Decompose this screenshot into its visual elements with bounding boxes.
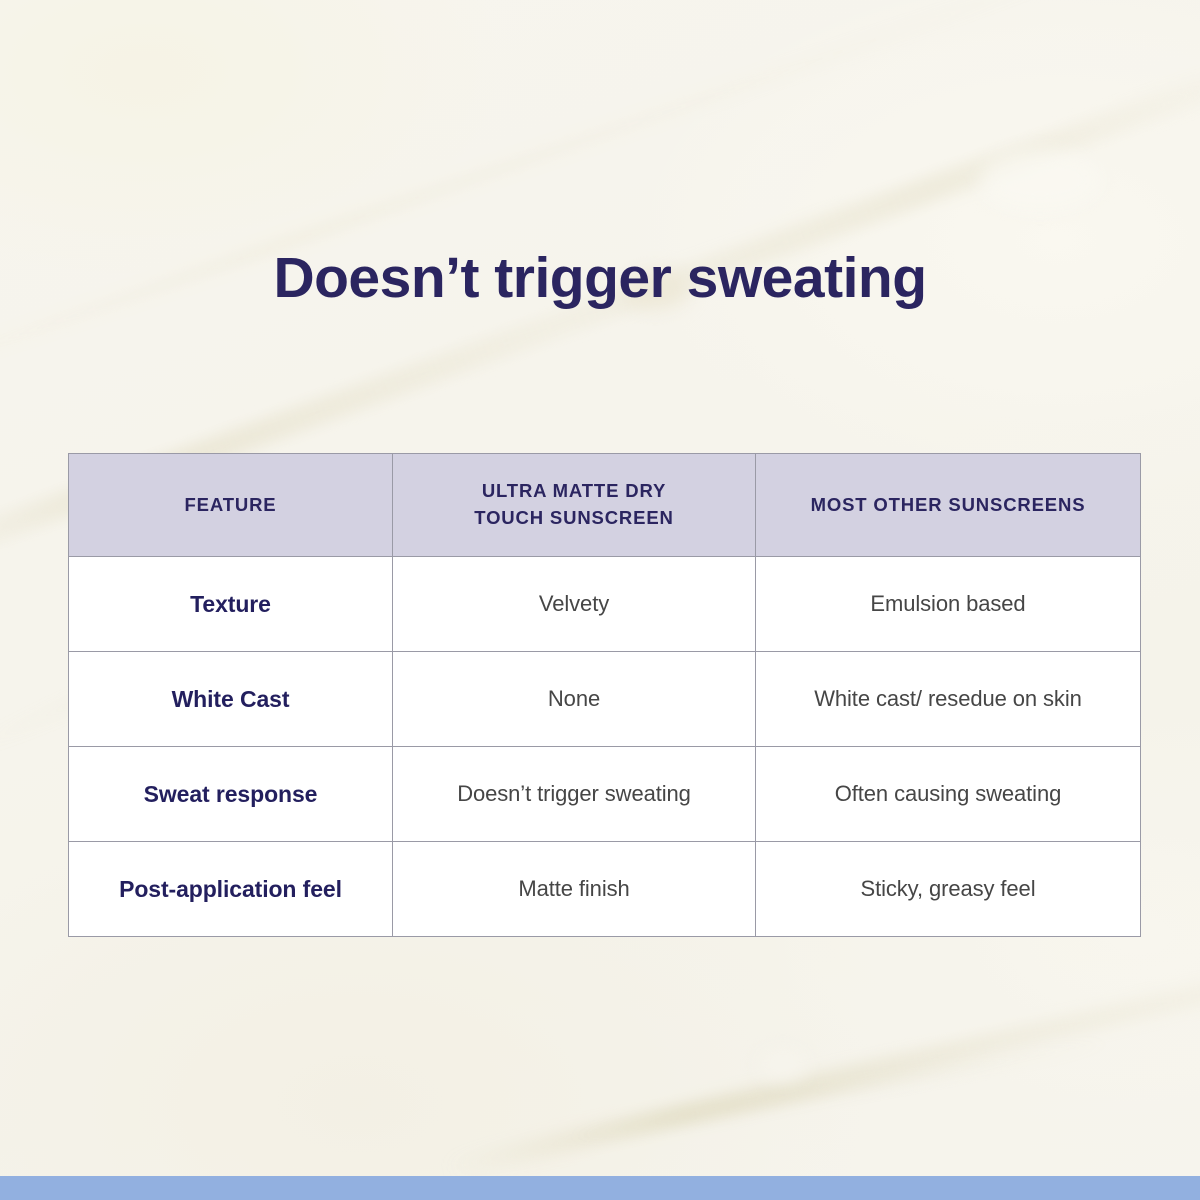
marble-vein-3 xyxy=(442,912,1200,1181)
page-title: Doesn’t trigger sweating xyxy=(0,248,1200,308)
cell-others-white-cast: White cast/ resedue on skin xyxy=(756,652,1141,747)
table-header-row: FEATURE ULTRA MATTE DRY TOUCH SUNSCREEN … xyxy=(69,454,1141,557)
cell-feature-texture: Texture xyxy=(69,557,393,652)
column-header-feature: FEATURE xyxy=(69,454,393,557)
cell-ours-texture: Velvety xyxy=(393,557,756,652)
cell-others-texture: Emulsion based xyxy=(756,557,1141,652)
column-header-others: MOST OTHER SUNSCREENS xyxy=(756,454,1141,557)
table-row: White Cast None White cast/ resedue on s… xyxy=(69,652,1141,747)
column-header-ours-line-1: ULTRA MATTE DRY xyxy=(482,480,666,501)
marble-speck-2 xyxy=(760,1050,806,1080)
bottom-accent-bar xyxy=(0,1176,1200,1200)
cell-others-sweat-response: Often causing sweating xyxy=(756,747,1141,842)
marble-speck-3 xyxy=(980,150,1100,210)
comparison-table: FEATURE ULTRA MATTE DRY TOUCH SUNSCREEN … xyxy=(68,453,1141,937)
column-header-ours-line-2: TOUCH SUNSCREEN xyxy=(474,507,673,528)
column-header-ours: ULTRA MATTE DRY TOUCH SUNSCREEN xyxy=(393,454,756,557)
table-row: Post-application feel Matte finish Stick… xyxy=(69,842,1141,937)
cell-ours-white-cast: None xyxy=(393,652,756,747)
table-row: Texture Velvety Emulsion based xyxy=(69,557,1141,652)
table-row: Sweat response Doesn’t trigger sweating … xyxy=(69,747,1141,842)
marble-vein-2 xyxy=(0,0,1144,410)
cell-others-post-application-feel: Sticky, greasy feel xyxy=(756,842,1141,937)
table-body: Texture Velvety Emulsion based White Cas… xyxy=(69,557,1141,937)
cell-feature-white-cast: White Cast xyxy=(69,652,393,747)
cell-feature-sweat-response: Sweat response xyxy=(69,747,393,842)
table-header: FEATURE ULTRA MATTE DRY TOUCH SUNSCREEN … xyxy=(69,454,1141,557)
marble-vein-4 xyxy=(563,1036,1116,1143)
comparison-table-container: FEATURE ULTRA MATTE DRY TOUCH SUNSCREEN … xyxy=(68,453,1140,937)
cell-feature-post-application-feel: Post-application feel xyxy=(69,842,393,937)
cell-ours-post-application-feel: Matte finish xyxy=(393,842,756,937)
cell-ours-sweat-response: Doesn’t trigger sweating xyxy=(393,747,756,842)
